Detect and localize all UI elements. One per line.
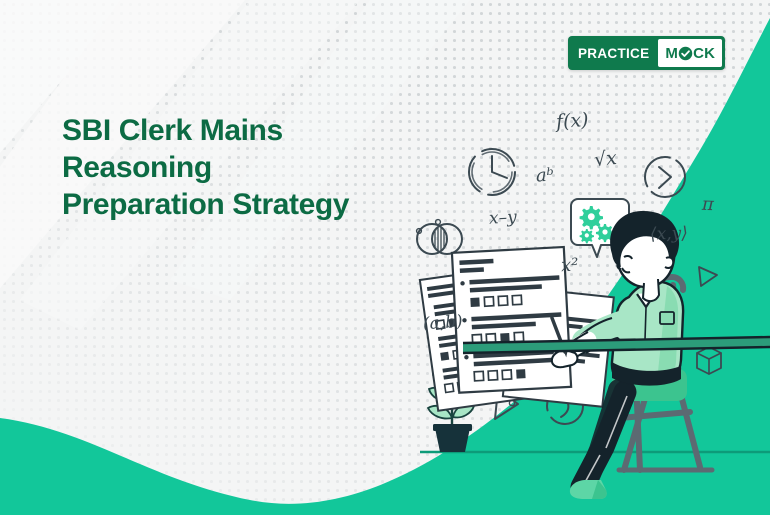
doodle-xy-pair: ⟨x,y⟩ — [650, 223, 689, 244]
doodle-fx: f(x) — [555, 109, 589, 133]
title-line-2: Reasoning — [62, 149, 462, 186]
doodle-pi: π — [702, 194, 715, 215]
logo-letter-m: M — [665, 45, 678, 62]
promo-banner: f(x) aᵇ √x π x–y ⟨x,y⟩ x² (a,b) SBI Cler… — [0, 0, 770, 515]
logo-word-mock: M CK — [658, 39, 722, 67]
title-line-1: SBI Clerk Mains — [62, 112, 462, 149]
practicemock-logo[interactable]: PRACTICE M CK — [568, 36, 725, 70]
doodle-a-power-b: aᵇ — [535, 165, 554, 187]
doodle-sqrt-x: √x — [593, 147, 618, 171]
title-line-3: Preparation Strategy — [62, 186, 462, 223]
page-title: SBI Clerk Mains Reasoning Preparation St… — [62, 112, 462, 223]
doodle-ab-pair: (a,b) — [422, 312, 463, 335]
logo-word-practice: PRACTICE — [571, 39, 658, 67]
check-circle-o-icon — [678, 46, 693, 61]
logo-letters-ck: CK — [693, 45, 715, 62]
math-doodle-layer: f(x) aᵇ √x π x–y ⟨x,y⟩ x² (a,b) — [0, 0, 770, 515]
doodle-x-squared: x² — [561, 255, 579, 277]
doodle-x-minus-y: x–y — [488, 207, 517, 228]
